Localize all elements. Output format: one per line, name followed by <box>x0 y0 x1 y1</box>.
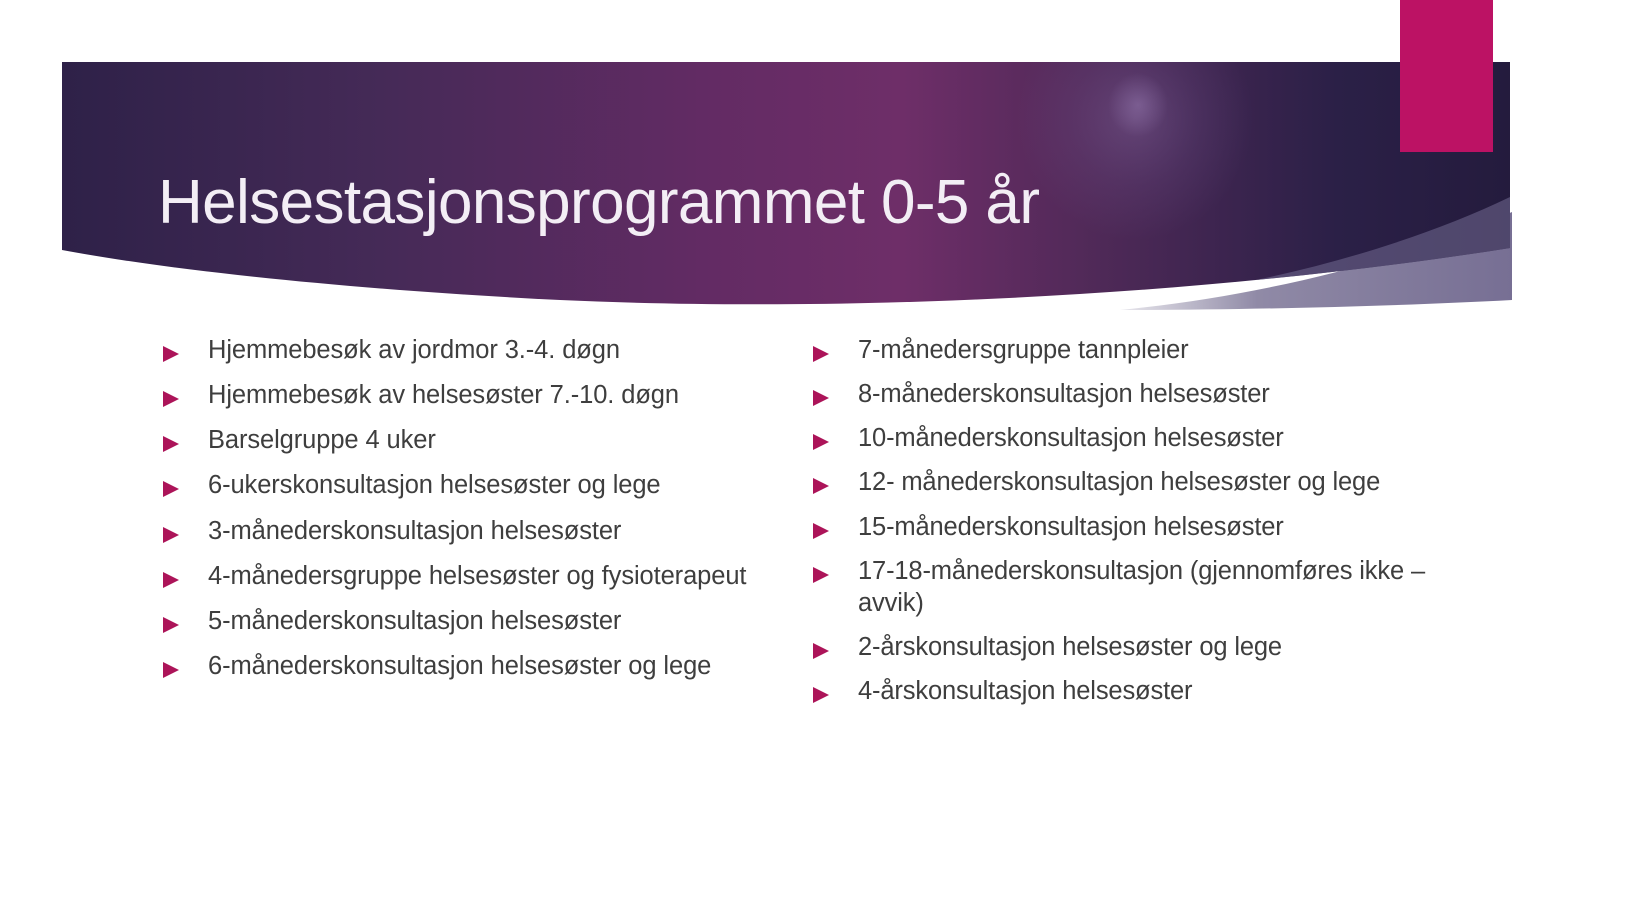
list-item[interactable]: Hjemmebesøk av helsesøster 7.-10. døgn <box>160 379 760 411</box>
list-item[interactable]: 2-årskonsultasjon helsesøster og lege <box>810 631 1430 663</box>
list-item[interactable]: 6-ukerskonsultasjon helsesøster og lege <box>160 469 760 501</box>
banner-glow-outer <box>1017 0 1253 240</box>
banner-graphic <box>0 0 1636 310</box>
triangle-right-icon <box>810 631 832 661</box>
list-item[interactable]: 17-18-månederskonsultasjon (gjennomføres… <box>810 555 1430 619</box>
triangle-right-icon <box>810 422 832 452</box>
list-item-label: 2-årskonsultasjon helsesøster og lege <box>858 631 1430 663</box>
triangle-right-icon <box>160 334 182 364</box>
list-item[interactable]: 5-månederskonsultasjon helsesøster <box>160 605 760 637</box>
list-item-label: 6-månederskonsultasjon helsesøster og le… <box>208 650 760 682</box>
list-item-label: 15-månederskonsultasjon helsesøster <box>858 511 1430 543</box>
banner-body-shape <box>62 62 1510 304</box>
triangle-right-icon <box>810 675 832 705</box>
banner-inner-swoosh <box>1120 196 1512 302</box>
list-item-label: Hjemmebesøk av jordmor 3.-4. døgn <box>208 334 760 366</box>
triangle-right-icon <box>160 560 182 590</box>
triangle-right-icon <box>160 379 182 409</box>
list-item-label: 7-månedersgruppe tannpleier <box>858 334 1430 366</box>
list-item-label: Barselgruppe 4 uker <box>208 424 760 456</box>
list-item-label: 12- månederskonsultasjon helsesøster og … <box>858 466 1430 498</box>
triangle-right-icon <box>810 378 832 408</box>
list-item-label: 4-månedersgruppe helsesøster og fysioter… <box>208 560 760 592</box>
triangle-right-icon <box>160 605 182 635</box>
list-item-label: Hjemmebesøk av helsesøster 7.-10. døgn <box>208 379 760 411</box>
list-item[interactable]: 4-månedersgruppe helsesøster og fysioter… <box>160 560 760 592</box>
list-item[interactable]: 8-månederskonsultasjon helsesøster <box>810 378 1430 410</box>
list-item-label: 17-18-månederskonsultasjon (gjennomføres… <box>858 555 1430 619</box>
list-item[interactable]: Barselgruppe 4 uker <box>160 424 760 456</box>
list-item-label: 3-månederskonsultasjon helsesøster <box>208 515 760 547</box>
banner-swoosh-shape <box>1120 212 1512 310</box>
list-item[interactable]: 6-månederskonsultasjon helsesøster og le… <box>160 650 760 682</box>
list-item-label: 6-ukerskonsultasjon helsesøster og lege <box>208 469 760 501</box>
list-item[interactable]: 4-årskonsultasjon helsesøster <box>810 675 1430 707</box>
presentation-slide: Helsestasjonsprogrammet 0-5 år Hjemmebes… <box>0 0 1636 920</box>
bullet-list-right: 7-månedersgruppe tannpleier 8-månedersko… <box>810 334 1430 719</box>
banner-glow-core <box>1108 73 1168 137</box>
list-item[interactable]: 10-månederskonsultasjon helsesøster <box>810 422 1430 454</box>
accent-bar <box>1400 0 1493 152</box>
triangle-right-icon <box>160 469 182 499</box>
list-item[interactable]: 15-månederskonsultasjon helsesøster <box>810 511 1430 543</box>
list-item[interactable]: 3-månederskonsultasjon helsesøster <box>160 515 760 547</box>
triangle-right-icon <box>160 515 182 545</box>
list-item[interactable]: Hjemmebesøk av jordmor 3.-4. døgn <box>160 334 760 366</box>
triangle-right-icon <box>810 466 832 496</box>
content-columns: Hjemmebesøk av jordmor 3.-4. døgn Hjemme… <box>0 334 1636 804</box>
triangle-right-icon <box>810 511 832 541</box>
triangle-right-icon <box>160 424 182 454</box>
page-title: Helsestasjonsprogrammet 0-5 år <box>158 170 1338 237</box>
bullet-list-left: Hjemmebesøk av jordmor 3.-4. døgn Hjemme… <box>160 334 760 695</box>
list-item-label: 5-månederskonsultasjon helsesøster <box>208 605 760 637</box>
list-item[interactable]: 12- månederskonsultasjon helsesøster og … <box>810 466 1430 498</box>
list-item-label: 4-årskonsultasjon helsesøster <box>858 675 1430 707</box>
list-item[interactable]: 7-månedersgruppe tannpleier <box>810 334 1430 366</box>
list-item-label: 10-månederskonsultasjon helsesøster <box>858 422 1430 454</box>
title-banner: Helsestasjonsprogrammet 0-5 år <box>0 0 1636 310</box>
triangle-right-icon <box>160 650 182 680</box>
triangle-right-icon <box>810 334 832 364</box>
list-item-label: 8-månederskonsultasjon helsesøster <box>858 378 1430 410</box>
triangle-right-icon <box>810 555 832 585</box>
